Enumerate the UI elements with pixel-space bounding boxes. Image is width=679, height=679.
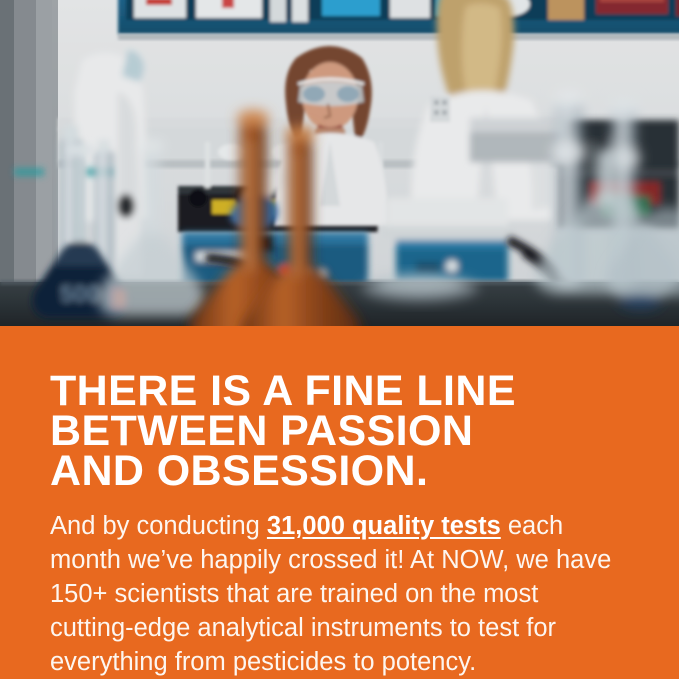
body-copy-part-1: And by conducting (50, 512, 267, 540)
advertisement-card: 500 (0, 0, 679, 679)
quality-tests-emphasis: 31,000 quality tests (267, 512, 501, 540)
promo-body-copy: And by conducting 31,000 quality tests e… (50, 509, 628, 679)
headline-line-2: BETWEEN PASSION (50, 411, 650, 451)
headline-line-1: THERE IS A FINE LINE (50, 371, 650, 411)
promo-headline: THERE IS A FINE LINE BETWEEN PASSION AND… (50, 371, 650, 491)
laboratory-photo: 500 (0, 0, 679, 326)
promo-panel: THERE IS A FINE LINE BETWEEN PASSION AND… (0, 326, 679, 679)
lab-scene-illustration: 500 (0, 0, 679, 326)
headline-line-3: AND OBSESSION. (50, 451, 650, 491)
